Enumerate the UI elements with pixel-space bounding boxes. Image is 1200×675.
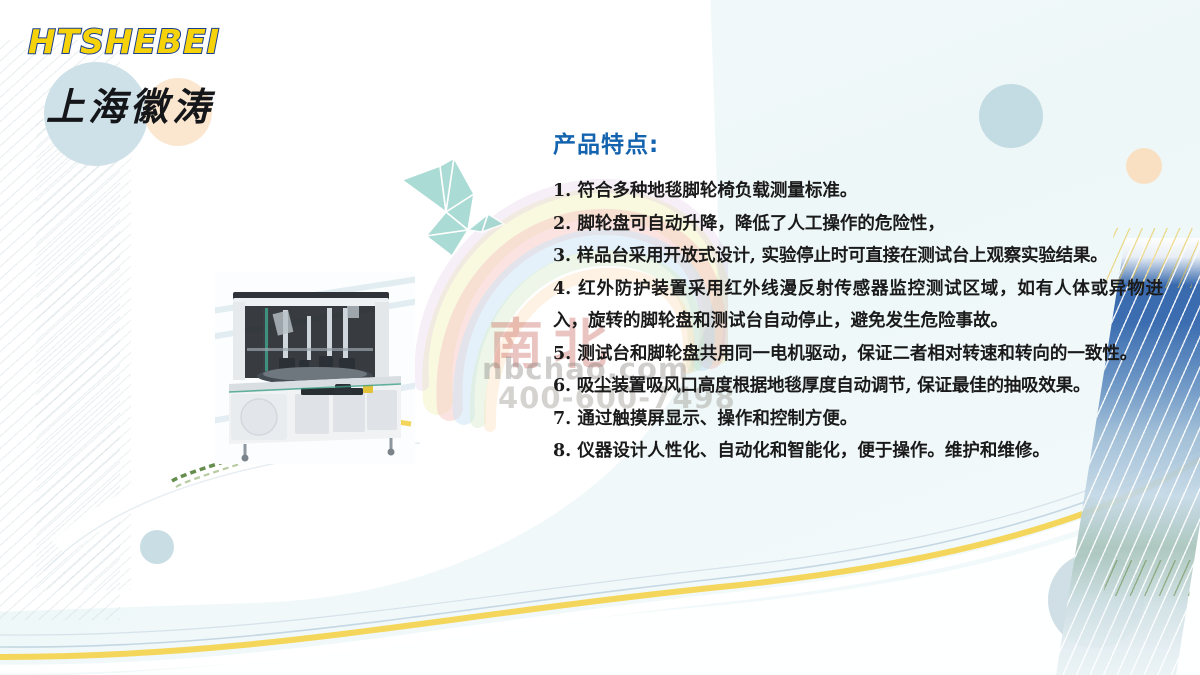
- feature-item: 6. 吸尘装置吸风口高度根据地毯厚度自动调节, 保证最佳的抽吸效果。: [553, 370, 1163, 403]
- decor-circle-blue-top-right: [979, 84, 1043, 148]
- brand-logo-en: HTSHEBEI: [28, 22, 220, 61]
- feature-item: 3. 样品台采用开放式设计, 实验停止时可直接在测试台上观察实验结果。: [553, 240, 1163, 273]
- brand-logo-cn: 上海徽涛: [46, 76, 214, 131]
- feature-list: 1. 符合多种地毯脚轮椅负载测量标准。 2. 脚轮盘可自动升降，降低了人工操作的…: [553, 175, 1163, 468]
- product-image: [215, 272, 415, 464]
- feature-item: 7. 通过触摸屏显示、操作和控制方便。: [553, 403, 1163, 436]
- feature-item: 8. 仪器设计人性化、自动化和智能化，便于操作。维护和维修。: [553, 435, 1163, 468]
- feature-item: 2. 脚轮盘可自动升降，降低了人工操作的危险性，: [553, 208, 1163, 241]
- feature-item: 1. 符合多种地毯脚轮椅负载测量标准。: [553, 175, 1163, 208]
- feature-item: 4. 红外防护装置采用红外线漫反射传感器监控测试区域，如有人体或异物进入，旋转的…: [553, 273, 1163, 338]
- feature-item: 5. 测试台和脚轮盘共用同一电机驱动，保证二者相对转速和转向的一致性。: [553, 338, 1163, 371]
- slide-root: HTSHEBEI 上海徽涛: [0, 0, 1200, 675]
- page-title: 产品特点:: [553, 125, 659, 159]
- origami-crane-icon: [396, 152, 546, 277]
- decor-stripe-band-green: [1103, 560, 1195, 596]
